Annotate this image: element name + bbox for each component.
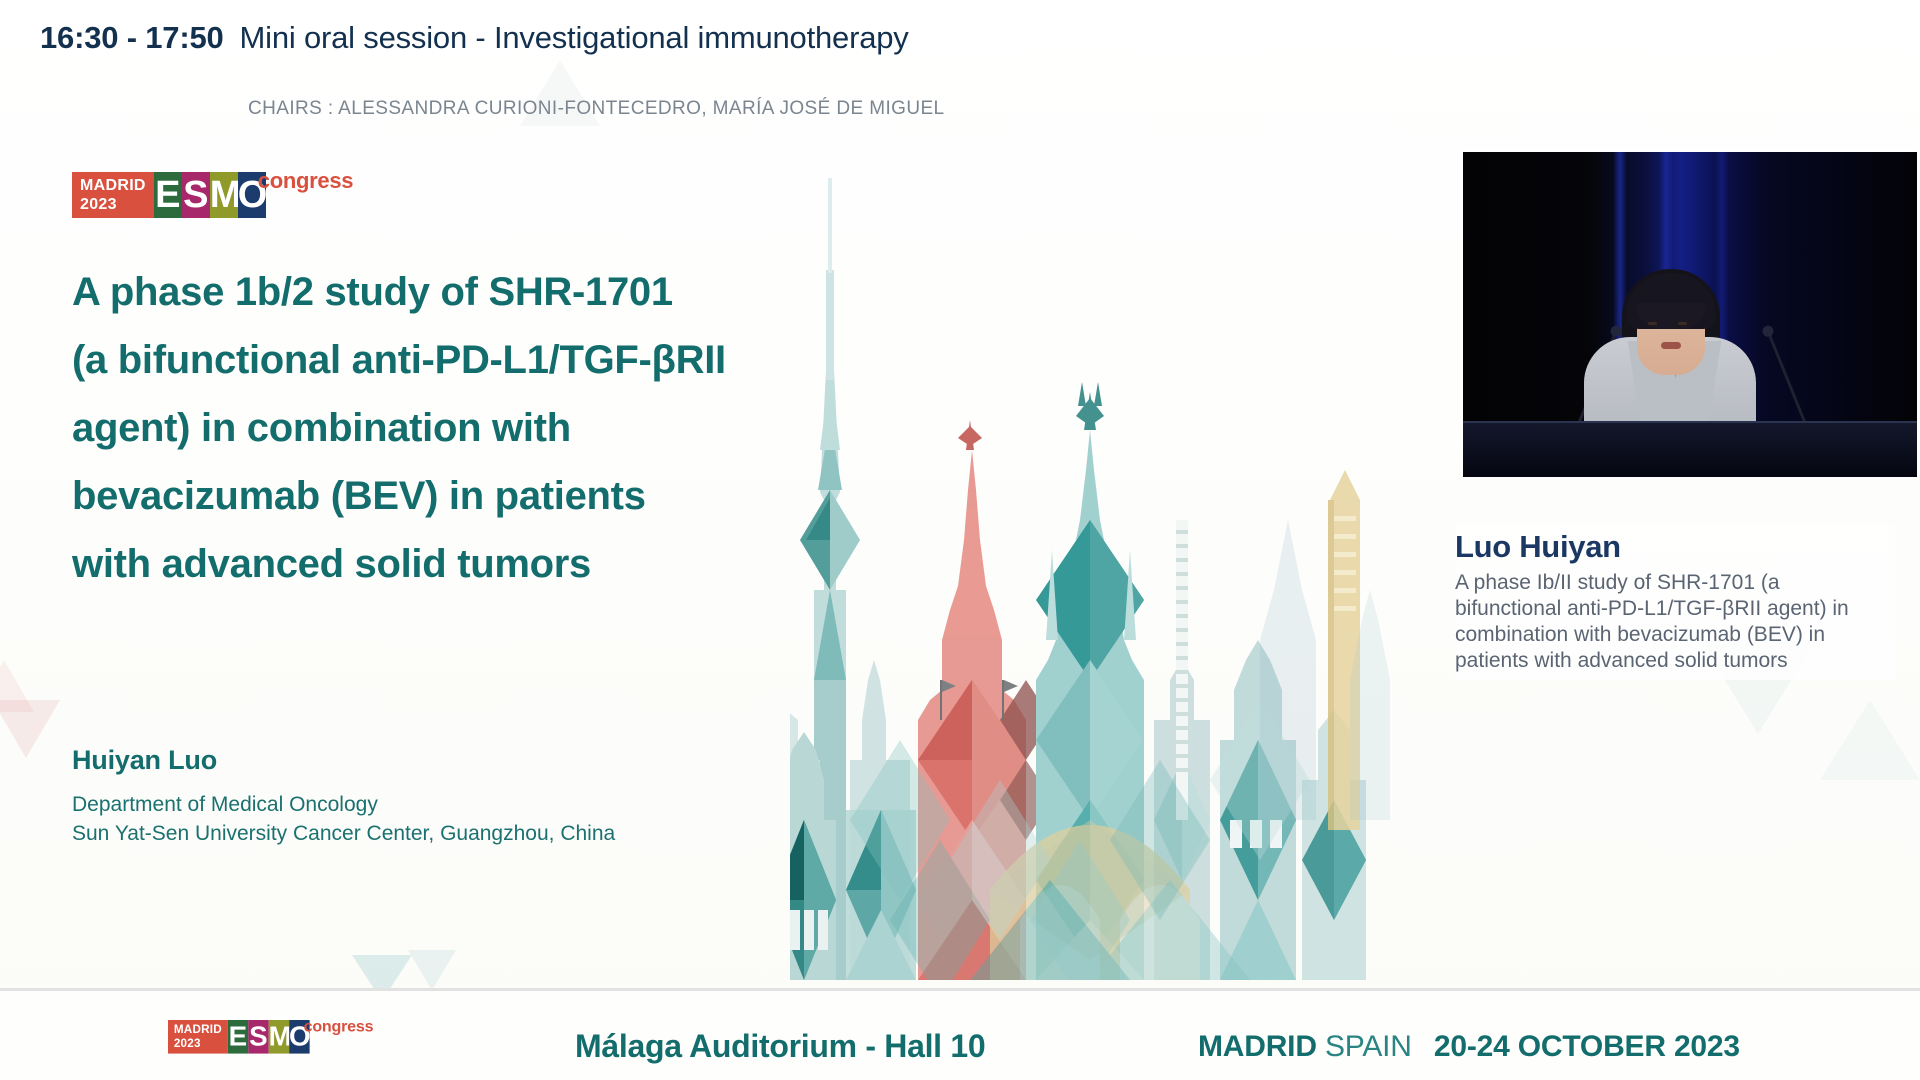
footer-logo-city: MADRID (174, 1024, 222, 1036)
decor-triangle-left-pink-2 (0, 660, 34, 712)
logo-letter-s: S (182, 172, 210, 218)
logo-letters: ESMO (154, 172, 266, 218)
footer-esmo-logo: MADRID 2023 ESMO congress (168, 1020, 309, 1054)
title-line-2: (a bifunctional anti-PD-L1/TGF-βRII (72, 326, 772, 394)
session-title: Mini oral session - Investigational immu… (240, 20, 909, 56)
presenter-institution: Sun Yat-Sen University Cancer Center, Gu… (72, 819, 615, 848)
esmo-congress-logo: MADRID 2023 ESMO congress (72, 172, 266, 218)
presenter-name: Huiyan Luo (72, 745, 615, 776)
speaker-mouth (1661, 342, 1681, 349)
session-time: 16:30 - 17:50 (40, 20, 224, 56)
footer-logo-madrid-box: MADRID 2023 (168, 1020, 228, 1054)
footer-logo-letter-s: S (248, 1020, 268, 1054)
footer-location-dates: MADRID SPAIN 20-24 OCTOBER 2023 (1198, 1030, 1740, 1064)
logo-letter-m: M (210, 172, 238, 218)
speaker-video-thumbnail[interactable] (1463, 152, 1917, 477)
decor-triangle-left-pink (0, 700, 60, 758)
logo-year: 2023 (80, 196, 117, 213)
session-chairs: CHAIRS : ALESSANDRA CURIONI-FONTECEDRO, … (248, 98, 945, 120)
presenter-department: Department of Medical Oncology (72, 790, 615, 819)
footer-dates: 20-24 OCTOBER 2023 (1434, 1030, 1740, 1063)
footer-logo-letter-m: M (269, 1020, 289, 1054)
decor-triangle-footer-teal-2 (408, 950, 456, 990)
title-line-3: agent) in combination with (72, 394, 772, 462)
session-header-row: 16:30 - 17:50 Mini oral session - Invest… (40, 20, 909, 56)
logo-letter-e: E (154, 172, 182, 218)
footer-logo-congress-word: congress (304, 1017, 374, 1036)
presenter-affiliation: Department of Medical Oncology Sun Yat-S… (72, 790, 615, 848)
logo-congress-word: congress (258, 168, 353, 194)
speaker-caption-panel: Luo Huiyan A phase Ib/II study of SHR-17… (1455, 525, 1895, 680)
footer-logo-letter-e: E (228, 1020, 248, 1054)
logo-madrid-box: MADRID 2023 (72, 172, 154, 218)
footer-country: SPAIN (1325, 1030, 1412, 1063)
footer-logo-letters: ESMO (228, 1020, 310, 1054)
presentation-slide: 16:30 - 17:50 Mini oral session - Invest… (0, 0, 1920, 1080)
decor-triangle-right-teal-2 (1820, 700, 1920, 780)
speaker-eye-right (1678, 322, 1687, 325)
madrid-skyline-graphic (790, 120, 1470, 980)
title-line-4: bevacizumab (BEV) in patients (72, 462, 772, 530)
speaker-eye-left (1648, 322, 1657, 325)
footer-logo-year: 2023 (174, 1038, 201, 1050)
logo-city: MADRID (80, 177, 146, 194)
footer-venue: Málaga Auditorium - Hall 10 (575, 1028, 985, 1065)
title-line-1: A phase 1b/2 study of SHR-1701 (72, 258, 772, 326)
footer-city: MADRID (1198, 1030, 1317, 1063)
presentation-title: A phase 1b/2 study of SHR-1701 (a bifunc… (72, 258, 772, 598)
podium (1463, 421, 1917, 477)
presenter-block: Huiyan Luo Department of Medical Oncolog… (72, 745, 615, 848)
footer-esmo-logo-mark: MADRID 2023 ESMO congress (168, 1020, 309, 1054)
caption-speaker-name: Luo Huiyan (1455, 527, 1891, 567)
esmo-logo-mark: MADRID 2023 ESMO congress (72, 172, 266, 218)
caption-talk-title: A phase Ib/II study of SHR-1701 (a bifun… (1455, 570, 1891, 674)
title-line-5: with advanced solid tumors (72, 530, 772, 598)
session-header: 16:30 - 17:50 Mini oral session - Invest… (0, 0, 1920, 140)
